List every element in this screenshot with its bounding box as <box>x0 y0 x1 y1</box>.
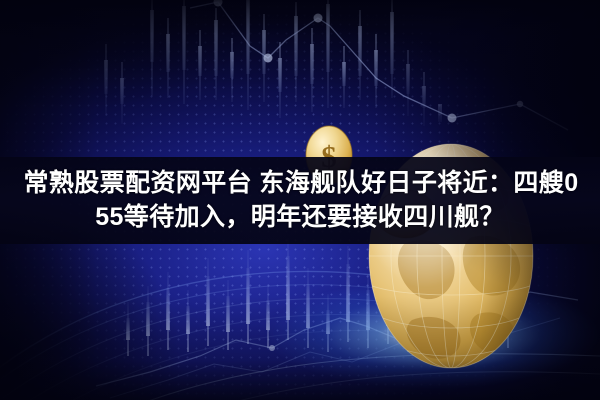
finance-news-banner: $ $ 常熟股票配资网平台 东海舰队好日子将近：四艘0 55等待加入，明年还要接… <box>0 0 600 400</box>
candlestick-group-upper <box>104 0 442 126</box>
trend-line-upper <box>190 0 568 130</box>
headline-line-1: 常熟股票配资网平台 东海舰队好日子将近：四艘0 <box>21 168 578 199</box>
headline-line-2: 55等待加入，明年还要接收四川舰？ <box>95 202 505 233</box>
headline-text: 常熟股票配资网平台 东海舰队好日子将近：四艘0 55等待加入，明年还要接收四川舰… <box>0 157 600 244</box>
